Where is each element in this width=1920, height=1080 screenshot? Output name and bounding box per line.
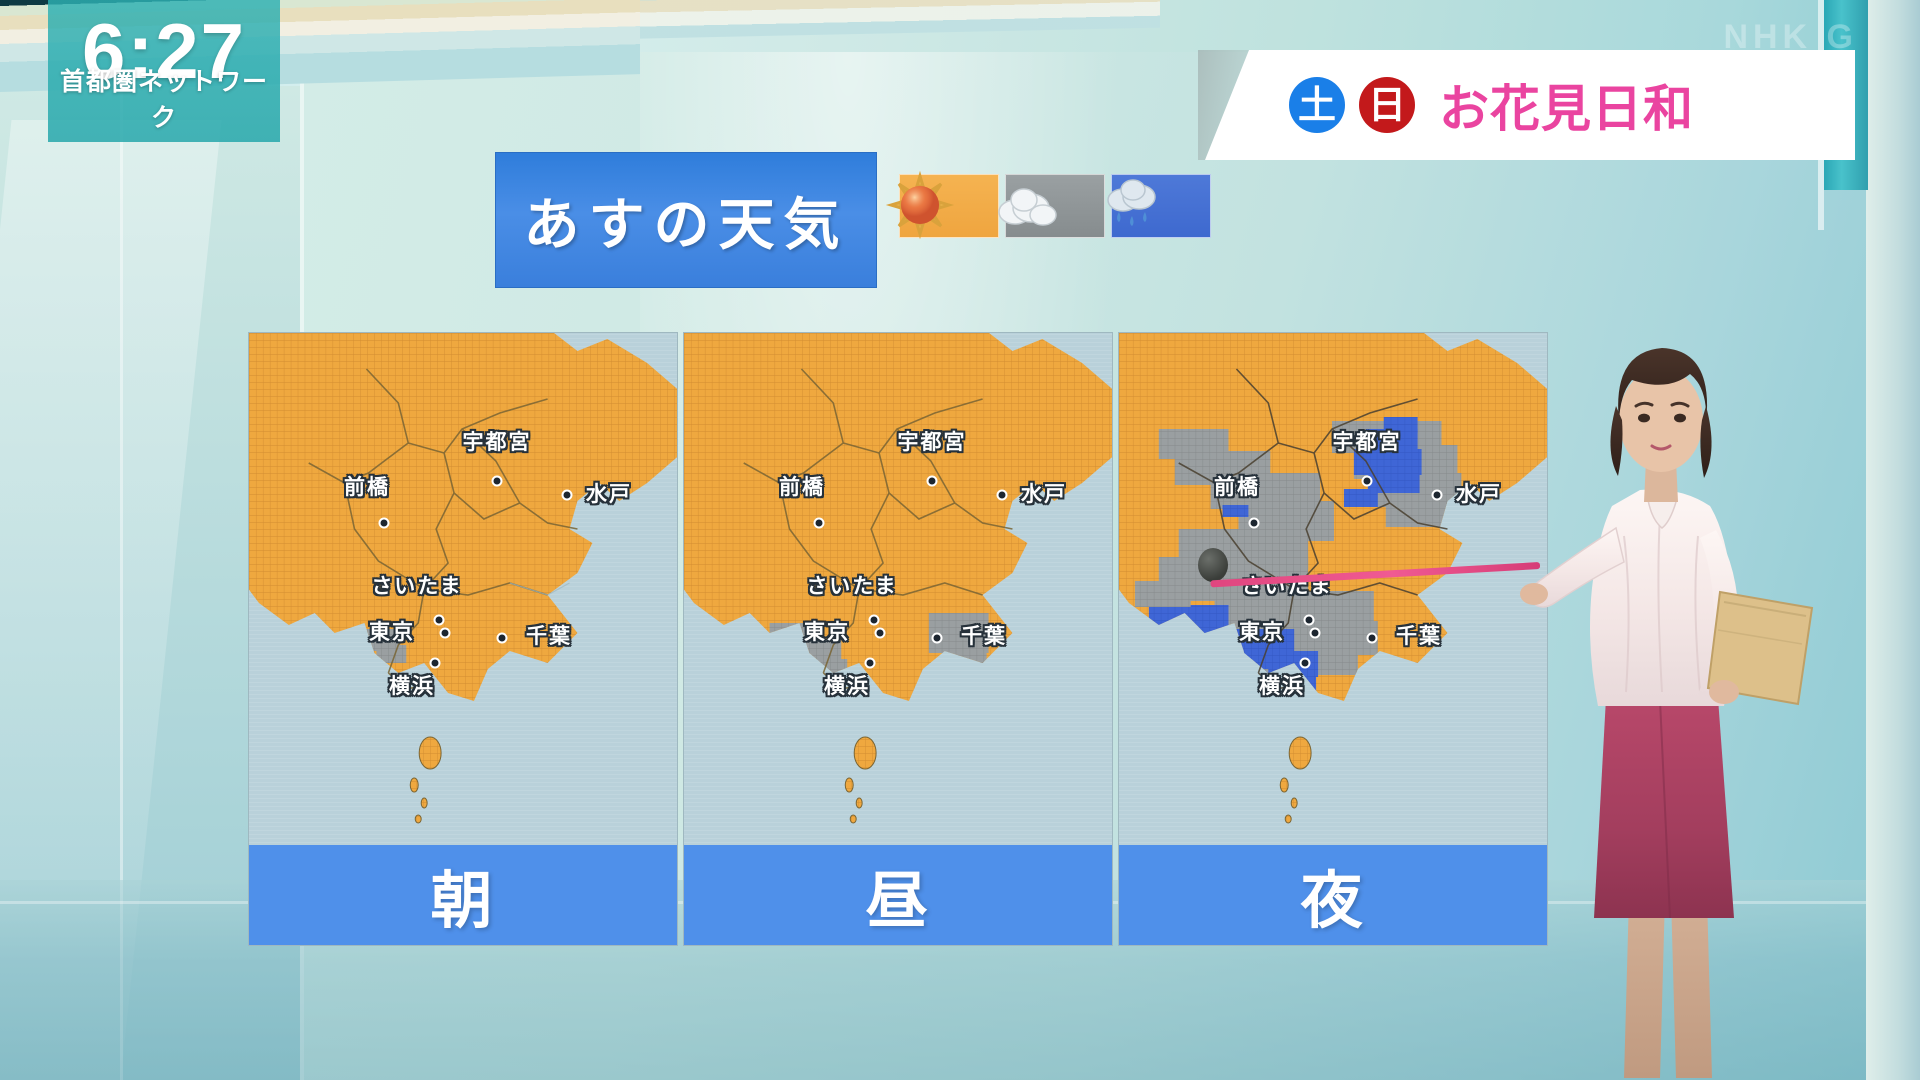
city-dot-chiba: [932, 633, 943, 644]
weather-map-panels: 宇都宮 前橋 水戸 さいたま 東京 千葉 横浜 朝: [248, 332, 1548, 946]
city-dot-yokohama: [865, 658, 876, 669]
weather-panel-morning[interactable]: 宇都宮 前橋 水戸 さいたま 東京 千葉 横浜 朝: [248, 332, 678, 946]
city-dot-utsunomiya: [1362, 476, 1373, 487]
time-label-night: 夜: [1300, 850, 1365, 940]
kanto-map-morning: [249, 333, 677, 847]
saturday-badge-label: 土: [1298, 86, 1336, 124]
map-surface-morning: 宇都宮 前橋 水戸 さいたま 東京 千葉 横浜: [249, 333, 677, 847]
city-dot-saitama: [434, 615, 445, 626]
city-dot-tokyo: [1310, 628, 1321, 639]
saturday-badge: 土: [1289, 77, 1345, 133]
sun-icon: [885, 170, 955, 240]
city-dot-maebashi: [379, 518, 390, 529]
weather-legend: [899, 174, 1211, 238]
city-dot-saitama: [869, 615, 880, 626]
city-dot-maebashi: [1249, 518, 1260, 529]
weather-panel-noon[interactable]: 宇都宮 前橋 水戸 さいたま 東京 千葉 横浜 昼: [683, 332, 1113, 946]
sunday-badge-label: 日: [1368, 86, 1406, 124]
headline-banner: 土 日 お花見日和: [1205, 50, 1855, 160]
time-label-noon: 昼: [865, 850, 930, 940]
legend-item-cloudy: [1005, 174, 1105, 238]
city-dot-mito: [1432, 490, 1443, 501]
city-dot-saitama: [1304, 615, 1315, 626]
time-bar-morning: 朝: [249, 845, 677, 945]
kanto-map-night: [1119, 333, 1547, 847]
program-name: 首都圏ネットワーク: [48, 62, 280, 134]
city-dot-utsunomiya: [927, 476, 938, 487]
city-dot-tokyo: [440, 628, 451, 639]
pointer-tip: [1198, 548, 1228, 582]
weather-title-text: あすの天気: [524, 180, 849, 261]
city-dot-maebashi: [814, 518, 825, 529]
sunday-badge: 日: [1359, 77, 1415, 133]
weather-title-box: あすの天気: [495, 152, 877, 288]
presenter: [1520, 300, 1880, 1080]
city-dot-yokohama: [1300, 658, 1311, 669]
weather-panel-night[interactable]: 宇都宮 前橋 水戸 さいたま 東京 千葉 横浜 夜: [1118, 332, 1548, 946]
city-dot-yokohama: [430, 658, 441, 669]
title-and-legend-row: あすの天気: [495, 152, 1285, 292]
legend-item-rainy: [1111, 174, 1211, 238]
city-dot-mito: [997, 490, 1008, 501]
map-surface-night: 宇都宮 前橋 水戸 さいたま 東京 千葉 横浜: [1119, 333, 1547, 847]
time-label-morning: 朝: [430, 850, 495, 940]
map-surface-noon: 宇都宮 前橋 水戸 さいたま 東京 千葉 横浜: [684, 333, 1112, 847]
headline-text: お花見日和: [1439, 69, 1694, 141]
city-dot-chiba: [497, 633, 508, 644]
city-dot-mito: [562, 490, 573, 501]
legend-item-sunny: [899, 174, 999, 238]
time-bar-noon: 昼: [684, 845, 1112, 945]
city-dot-tokyo: [875, 628, 886, 639]
clock-overlay: 6:27 首都圏ネットワーク: [48, 0, 280, 142]
time-bar-night: 夜: [1119, 845, 1547, 945]
kanto-map-noon: [684, 333, 1112, 847]
cloud-icon: [991, 170, 1061, 240]
presenter-figure: [1520, 300, 1880, 1080]
city-dot-chiba: [1367, 633, 1378, 644]
city-dot-utsunomiya: [492, 476, 503, 487]
rain-icon: [1097, 170, 1167, 240]
